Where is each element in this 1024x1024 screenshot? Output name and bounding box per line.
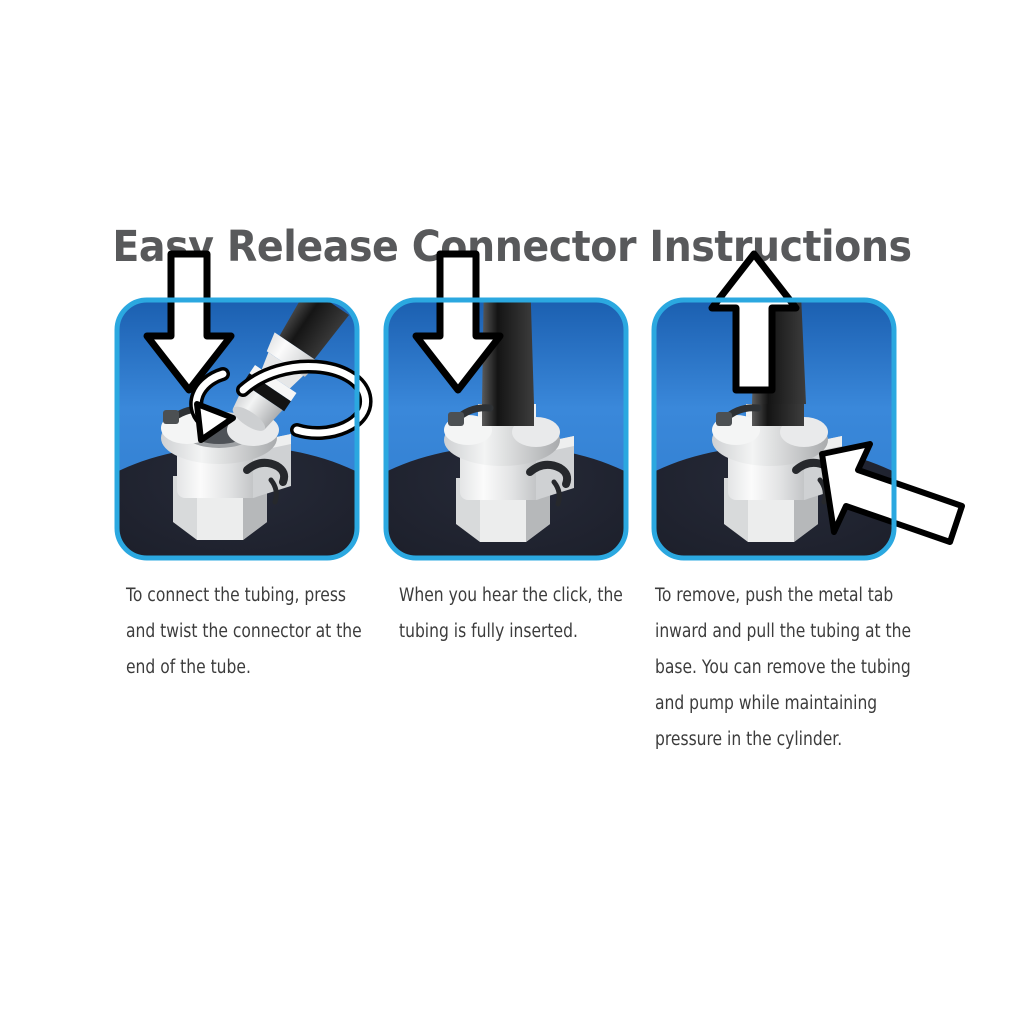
panel-remove-step bbox=[654, 300, 894, 558]
panel-3-illustration bbox=[584, 254, 964, 614]
caption-click-step: When you hear the click, the tubing is f… bbox=[399, 578, 643, 650]
caption-connect-step: To connect the tubing, press and twist t… bbox=[126, 578, 370, 686]
panel-row bbox=[0, 0, 1024, 1024]
caption-remove-step: To remove, push the metal tab inward and… bbox=[655, 578, 932, 758]
instruction-graphic: Easy Release Connector Instructions bbox=[0, 0, 1024, 1024]
